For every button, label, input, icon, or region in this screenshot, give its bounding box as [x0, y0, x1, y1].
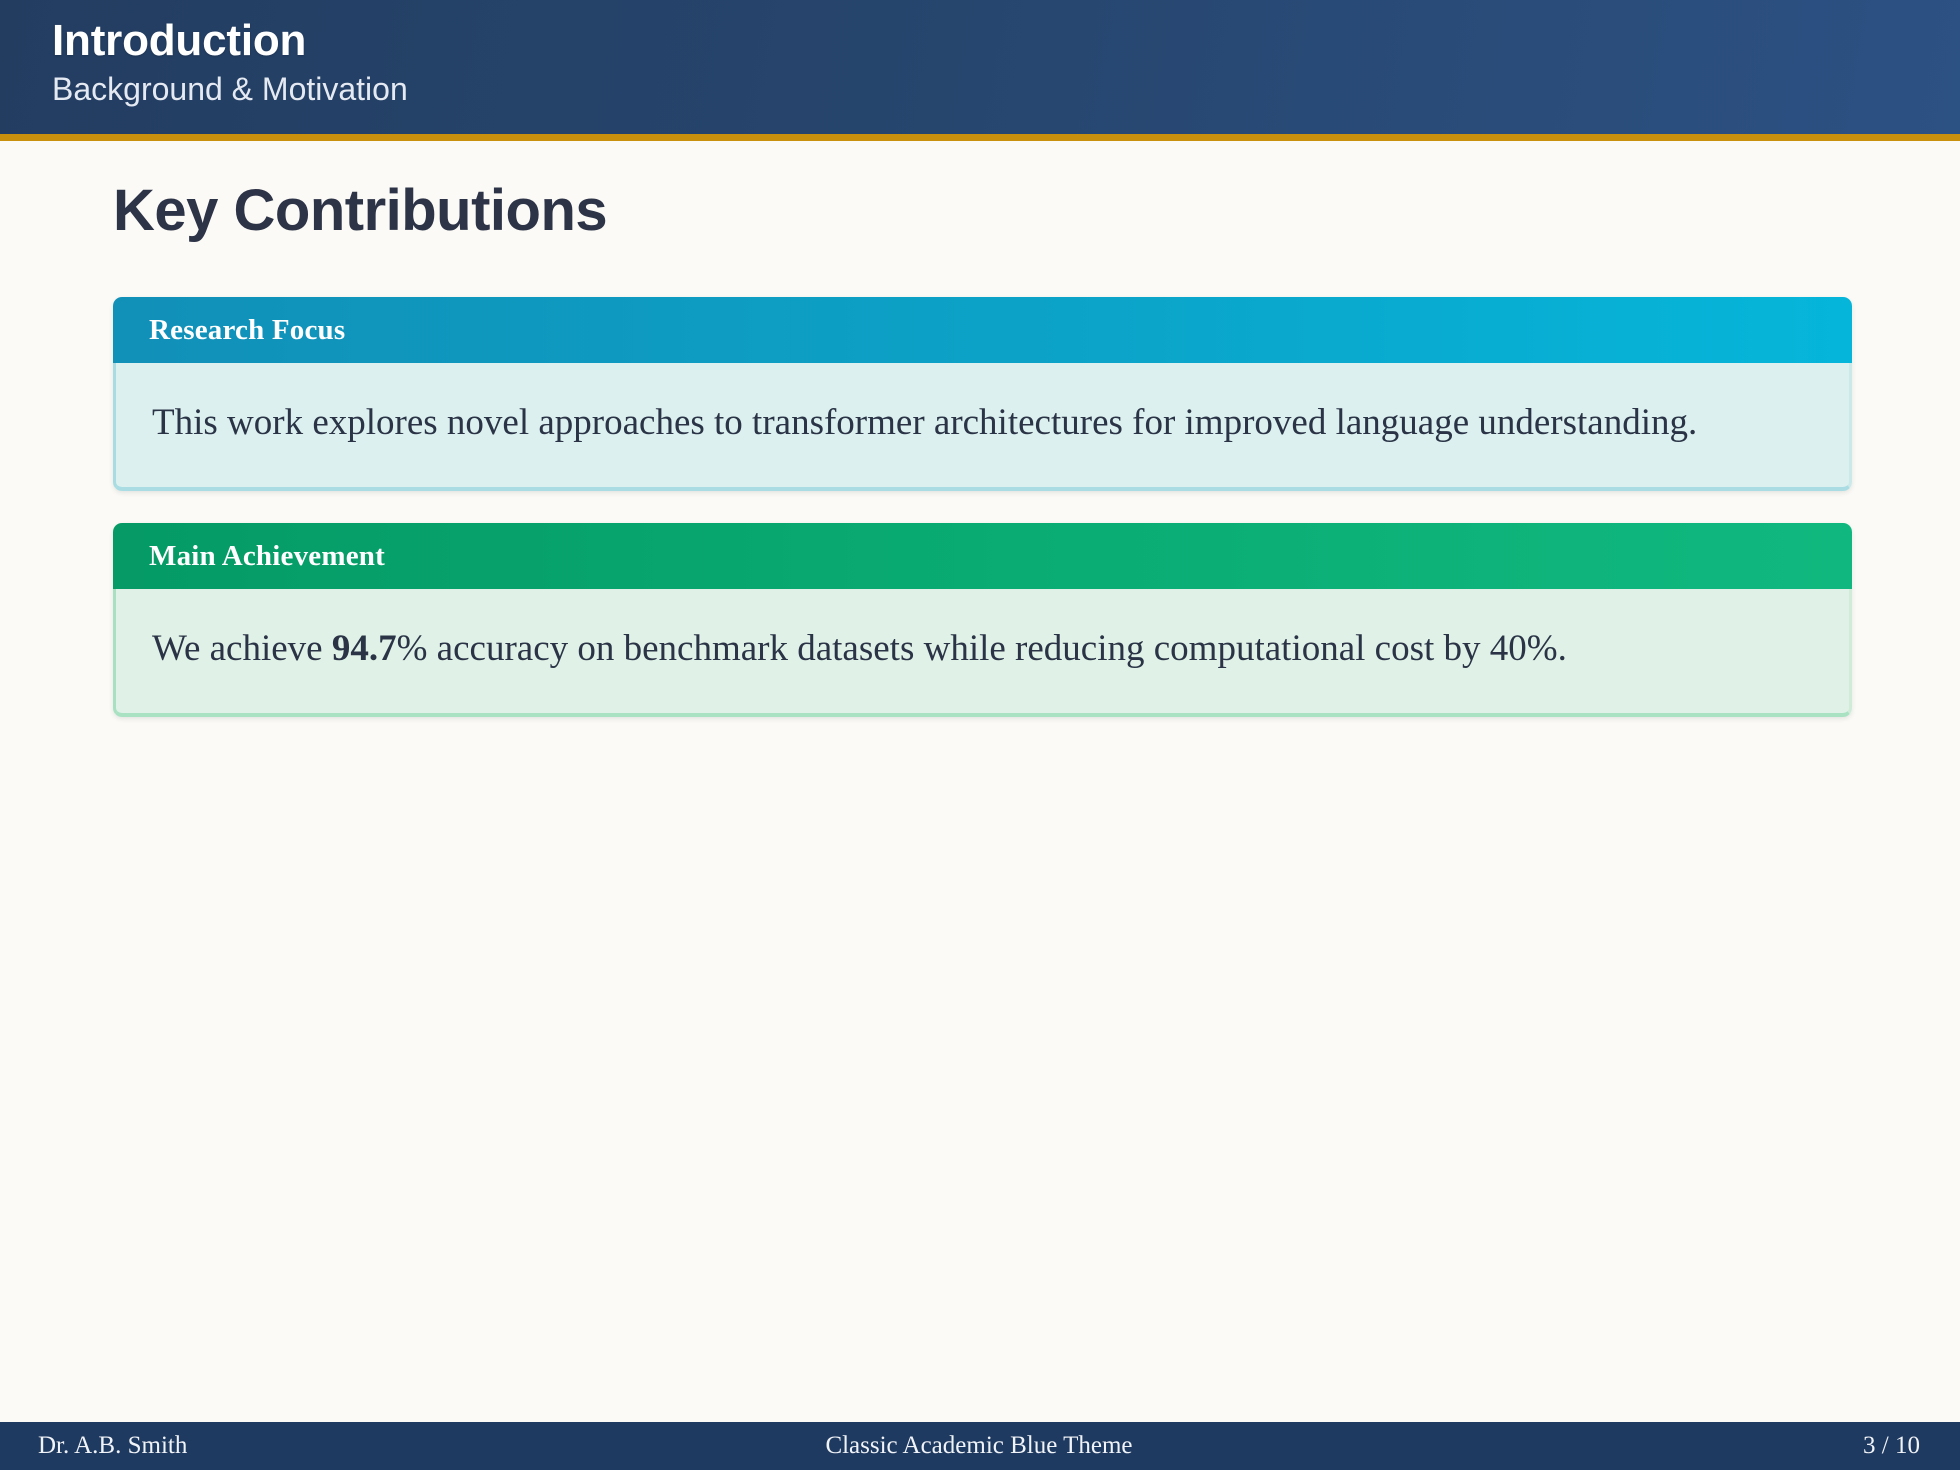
slide-header: Introduction Background & Motivation	[0, 0, 1960, 134]
header-accent-rule	[0, 134, 1960, 141]
footer-author: Dr. A.B. Smith	[38, 1432, 665, 1460]
slide-content: Key Contributions Research Focus This wo…	[0, 141, 1960, 1422]
block-heading: Main Achievement	[113, 523, 1852, 589]
slide-section-subtitle: Background & Motivation	[52, 69, 1960, 109]
block-body-text: This work explores novel approaches to t…	[113, 363, 1852, 491]
block-main-achievement: Main Achievement We achieve 94.7% accura…	[113, 523, 1852, 717]
block-research-focus: Research Focus This work explores novel …	[113, 297, 1852, 491]
slide-section-title: Introduction	[52, 18, 1960, 64]
footer-theme-name: Classic Academic Blue Theme	[665, 1432, 1292, 1460]
block-heading: Research Focus	[113, 297, 1852, 363]
page-title: Key Contributions	[113, 179, 1852, 243]
block-body-text: We achieve 94.7% accuracy on benchmark d…	[113, 589, 1852, 717]
slide-footer: Dr. A.B. Smith Classic Academic Blue The…	[0, 1422, 1960, 1470]
presentation-slide: Introduction Background & Motivation Key…	[0, 0, 1960, 1470]
footer-page-indicator: 3 / 10	[1293, 1432, 1920, 1460]
